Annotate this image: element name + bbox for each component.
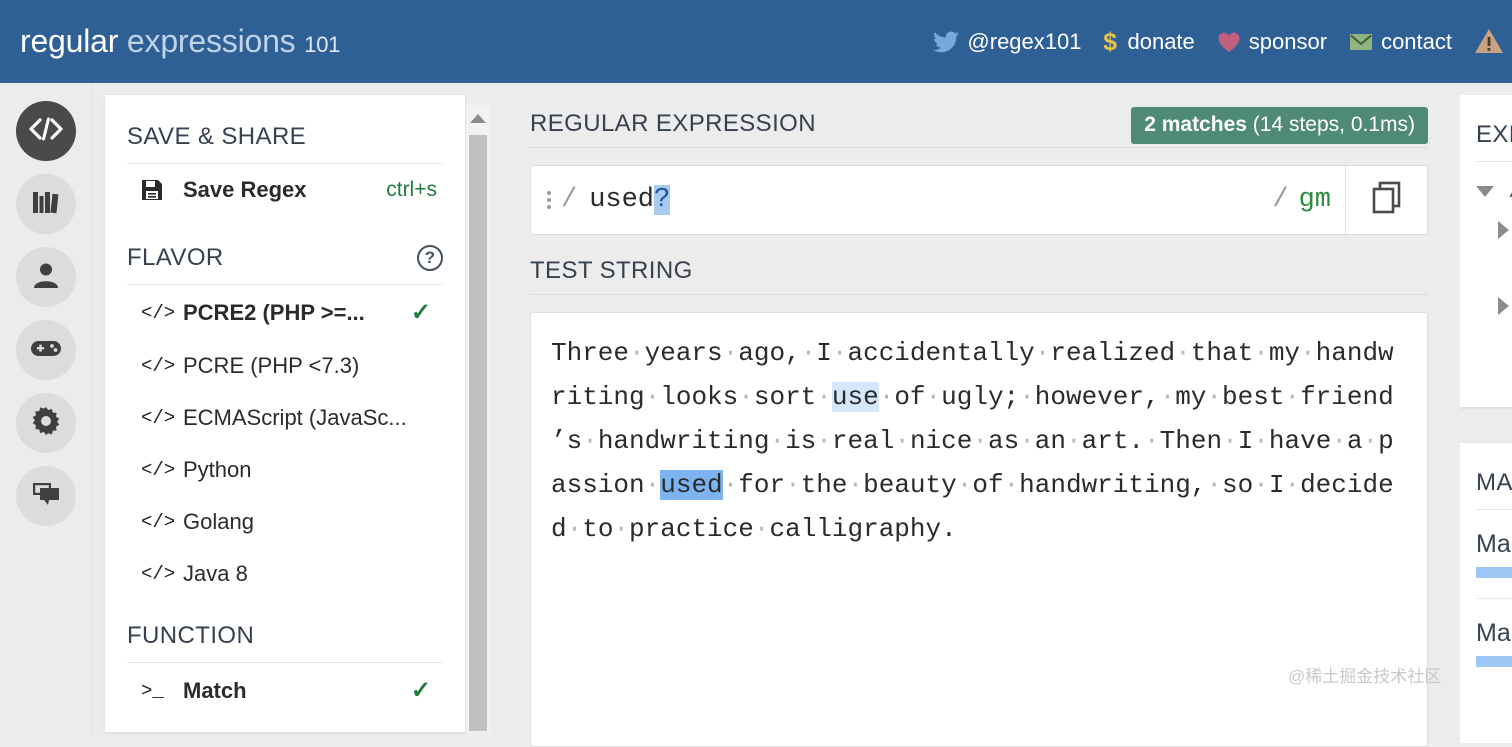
regex-section-title: REGULAR EXPRESSION xyxy=(530,110,816,138)
explanation-child-row[interactable] xyxy=(1476,239,1512,315)
code-icon: </> xyxy=(141,407,183,429)
check-icon: ✓ xyxy=(411,298,443,327)
space-dot: · xyxy=(613,514,629,544)
app-header: regular expressions 101 @regex101 $ dona… xyxy=(0,0,1512,83)
code-icon: </> xyxy=(141,355,183,377)
flavor-item-ecmascript[interactable]: </> ECMAScript (JavaSc... xyxy=(127,392,443,444)
match-information-title: MA xyxy=(1476,443,1512,510)
match-item-label: Ma xyxy=(1476,530,1512,559)
flavor-item-java8[interactable]: </> Java 8 xyxy=(127,548,443,600)
twitter-icon xyxy=(933,31,959,53)
check-icon: ✓ xyxy=(411,676,443,705)
space-dot: · xyxy=(1206,470,1222,500)
code-icon xyxy=(29,117,63,146)
comments-icon xyxy=(31,481,61,512)
space-dot: · xyxy=(1019,382,1035,412)
space-dot: · xyxy=(582,426,598,456)
warning-triangle-icon xyxy=(1474,28,1504,55)
logo-word-101: 101 xyxy=(304,32,340,57)
function-item-match[interactable]: >_ Match ✓ xyxy=(127,663,443,718)
space-dot: · xyxy=(1331,426,1347,456)
test-string-title: TEST STRING xyxy=(530,257,693,285)
space-dot: · xyxy=(801,338,817,368)
chevron-right-icon[interactable] xyxy=(1498,221,1509,239)
match-highlight-soft: use xyxy=(832,382,879,412)
match-item[interactable]: Ma xyxy=(1476,599,1512,667)
svg-text:$: $ xyxy=(1104,29,1118,55)
regex-close-delimiter: / xyxy=(1272,185,1288,215)
space-dot: · xyxy=(1004,470,1020,500)
space-dot: · xyxy=(1253,426,1269,456)
explanation-title: EXP xyxy=(1476,95,1512,162)
space-dot: · xyxy=(1284,382,1300,412)
space-dot: · xyxy=(894,426,910,456)
envelope-icon xyxy=(1349,32,1373,52)
space-dot: · xyxy=(629,338,645,368)
save-share-title: SAVE & SHARE xyxy=(127,95,443,164)
library-icon xyxy=(31,189,61,220)
space-dot: · xyxy=(567,514,583,544)
match-item-bar xyxy=(1476,567,1512,578)
space-dot: · xyxy=(1160,382,1176,412)
copy-icon xyxy=(1371,181,1403,220)
flavor-item-pcre[interactable]: </> PCRE (PHP <7.3) xyxy=(127,340,443,392)
space-dot: · xyxy=(1019,426,1035,456)
space-dot: · xyxy=(645,470,661,500)
drag-handle-icon[interactable] xyxy=(547,191,551,209)
space-dot: · xyxy=(832,338,848,368)
match-item-label: Ma xyxy=(1476,619,1512,648)
space-dot: · xyxy=(769,426,785,456)
regex-open-delimiter: / xyxy=(561,185,577,215)
space-dot: · xyxy=(1222,426,1238,456)
rail-item-code[interactable] xyxy=(16,101,76,161)
nav-donate-label: donate xyxy=(1127,29,1194,55)
main-content: REGULAR EXPRESSION 2 matches (14 steps, … xyxy=(512,83,1450,732)
regex-flags[interactable]: gm xyxy=(1299,185,1331,215)
space-dot: · xyxy=(816,426,832,456)
flavor-section-header: FLAVOR ? xyxy=(127,216,443,285)
flavor-label: PCRE (PHP <7.3) xyxy=(183,353,443,379)
nav-sponsor-label: sponsor xyxy=(1249,29,1327,55)
sidebar-scrollbar[interactable] xyxy=(466,105,490,732)
sidebar-panel: SAVE & SHARE Save Regex ctrl+s FLAVOR ? … xyxy=(105,95,465,732)
space-dot: · xyxy=(972,426,988,456)
space-dot: · xyxy=(723,470,739,500)
save-regex-label: Save Regex xyxy=(183,177,386,203)
chevron-up-icon xyxy=(470,114,486,123)
regex-pattern-text: used xyxy=(589,185,654,215)
space-dot: · xyxy=(816,382,832,412)
chevron-right-icon[interactable] xyxy=(1498,297,1509,315)
space-dot: · xyxy=(1253,470,1269,500)
watermark: @稀土掘金技术社区 xyxy=(1288,662,1441,687)
floppy-save-icon xyxy=(141,179,183,201)
flavor-label: PCRE2 (PHP >=... xyxy=(183,300,411,326)
save-regex-shortcut: ctrl+s xyxy=(386,178,443,202)
header-nav: @regex101 $ donate sponsor contact xyxy=(922,0,1504,83)
regex-flags-group[interactable]: / gm xyxy=(1272,185,1331,215)
match-detail: (14 steps, 0.1ms) xyxy=(1247,113,1415,136)
account-icon xyxy=(32,261,60,294)
flavor-item-pcre2[interactable]: </> PCRE2 (PHP >=... ✓ xyxy=(127,285,443,340)
chevron-down-icon[interactable] xyxy=(1476,186,1494,197)
nav-sponsor[interactable]: sponsor xyxy=(1206,29,1338,55)
nav-twitter-label: @regex101 xyxy=(967,29,1081,55)
space-dot: · xyxy=(848,470,864,500)
code-icon: </> xyxy=(141,302,183,324)
space-dot: · xyxy=(785,470,801,500)
space-dot: · xyxy=(738,382,754,412)
nav-contact[interactable]: contact xyxy=(1338,29,1463,55)
nav-donate[interactable]: $ donate xyxy=(1092,29,1205,55)
logo-word-regular: regular xyxy=(20,23,118,59)
scrollbar-thumb[interactable] xyxy=(469,135,487,731)
regex-selected-token: ? xyxy=(654,185,670,215)
code-icon: </> xyxy=(141,563,183,585)
site-logo[interactable]: regular expressions 101 xyxy=(20,23,340,60)
space-dot: · xyxy=(1300,338,1316,368)
explanation-root-row[interactable]: / xyxy=(1476,162,1512,205)
match-item[interactable]: Ma xyxy=(1476,510,1512,578)
rail-item-gamepad[interactable] xyxy=(16,320,76,380)
code-icon: </> xyxy=(141,459,183,481)
match-highlight-strong: used xyxy=(660,470,722,500)
dollar-icon: $ xyxy=(1103,29,1119,55)
match-information-panel: MA Ma Ma xyxy=(1460,443,1512,743)
heart-icon xyxy=(1217,31,1241,53)
nav-twitter[interactable]: @regex101 xyxy=(922,29,1092,55)
copy-regex-button[interactable] xyxy=(1345,166,1427,234)
settings-gear-icon xyxy=(32,407,60,440)
space-dot: · xyxy=(1175,338,1191,368)
terminal-prompt-icon: >_ xyxy=(141,680,183,702)
flavor-item-golang[interactable]: </> Golang xyxy=(127,496,443,548)
space-dot: · xyxy=(645,382,661,412)
rail-item-settings[interactable] xyxy=(16,393,76,453)
space-dot: · xyxy=(1284,470,1300,500)
flavor-title: FLAVOR xyxy=(127,244,224,272)
space-dot: · xyxy=(1253,338,1269,368)
match-status-badge: 2 matches (14 steps, 0.1ms) xyxy=(1131,107,1428,144)
flavor-label: ECMAScript (JavaSc... xyxy=(183,405,443,431)
space-dot: · xyxy=(1066,426,1082,456)
code-icon: </> xyxy=(141,511,183,533)
match-item-bar xyxy=(1476,656,1512,667)
flavor-label: Python xyxy=(183,457,443,483)
function-title: FUNCTION xyxy=(127,600,443,663)
space-dot: · xyxy=(1035,338,1051,368)
save-regex-button[interactable]: Save Regex ctrl+s xyxy=(127,164,443,216)
scroll-up-button[interactable] xyxy=(466,105,490,131)
explanation-child-row[interactable] xyxy=(1476,205,1512,239)
flavor-label: Golang xyxy=(183,509,443,535)
help-question-icon[interactable]: ? xyxy=(417,245,443,271)
regex-input-box[interactable]: / used? / gm xyxy=(530,165,1428,235)
rail-item-comments[interactable] xyxy=(16,466,76,526)
regex-input[interactable]: / used? / gm xyxy=(531,166,1345,234)
nav-contact-label: contact xyxy=(1381,29,1452,55)
flavor-label: Java 8 xyxy=(183,561,443,587)
left-icon-rail xyxy=(0,83,92,732)
nav-warning[interactable] xyxy=(1463,28,1504,55)
function-label: Match xyxy=(183,678,411,704)
space-dot: · xyxy=(879,382,895,412)
logo-word-expressions: expressions xyxy=(127,23,296,59)
rail-item-account[interactable] xyxy=(16,247,76,307)
explanation-root-label: / xyxy=(1508,178,1512,205)
match-count: 2 matches xyxy=(1144,113,1247,136)
regex-section-header: REGULAR EXPRESSION 2 matches (14 steps, … xyxy=(530,101,1428,148)
space-dot: · xyxy=(1363,426,1379,456)
space-dot: · xyxy=(754,514,770,544)
space-dot: · xyxy=(723,338,739,368)
gamepad-icon xyxy=(30,337,62,364)
space-dot: · xyxy=(957,470,973,500)
right-panels: EXP / MA Ma Ma xyxy=(1460,95,1512,743)
explanation-panel: EXP / xyxy=(1460,95,1512,407)
space-dot: · xyxy=(926,382,942,412)
flavor-item-python[interactable]: </> Python xyxy=(127,444,443,496)
space-dot: · xyxy=(1206,382,1222,412)
rail-item-library[interactable] xyxy=(16,174,76,234)
space-dot: · xyxy=(1144,426,1160,456)
test-string-section-header: TEST STRING xyxy=(530,257,1428,295)
